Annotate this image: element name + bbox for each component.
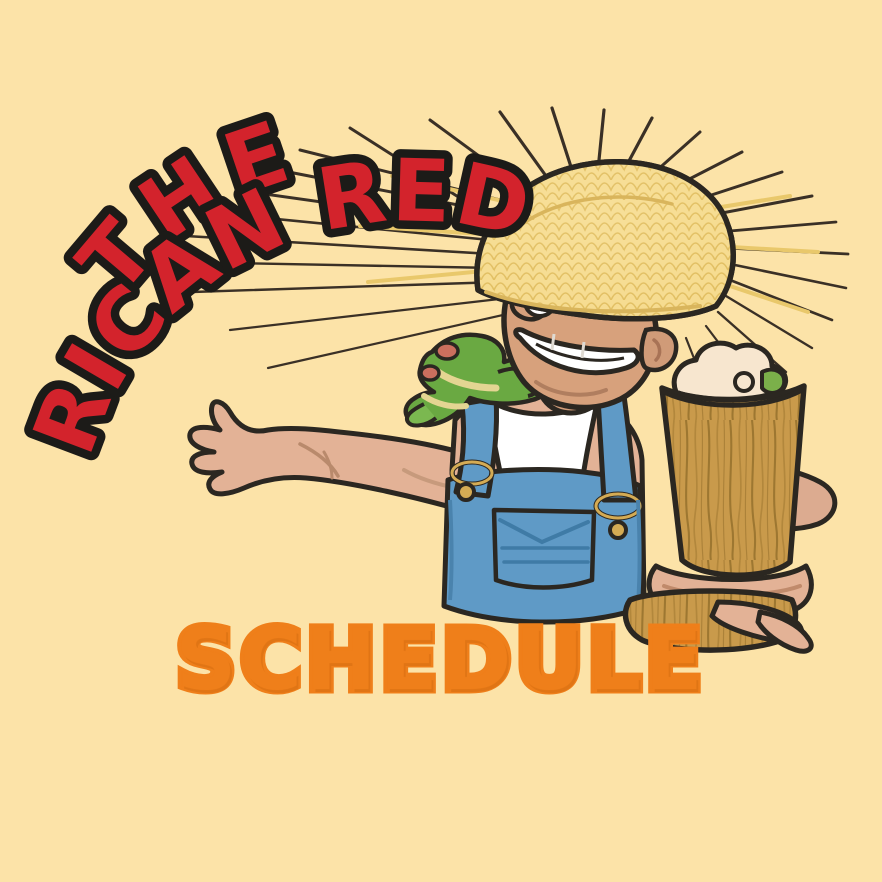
rican-redneck-illustration: THE THE RICAN REDNECK RICAN REDNECK	[0, 0, 882, 882]
poster-canvas: THE THE RICAN REDNECK RICAN REDNECK SCHE…	[0, 0, 882, 882]
